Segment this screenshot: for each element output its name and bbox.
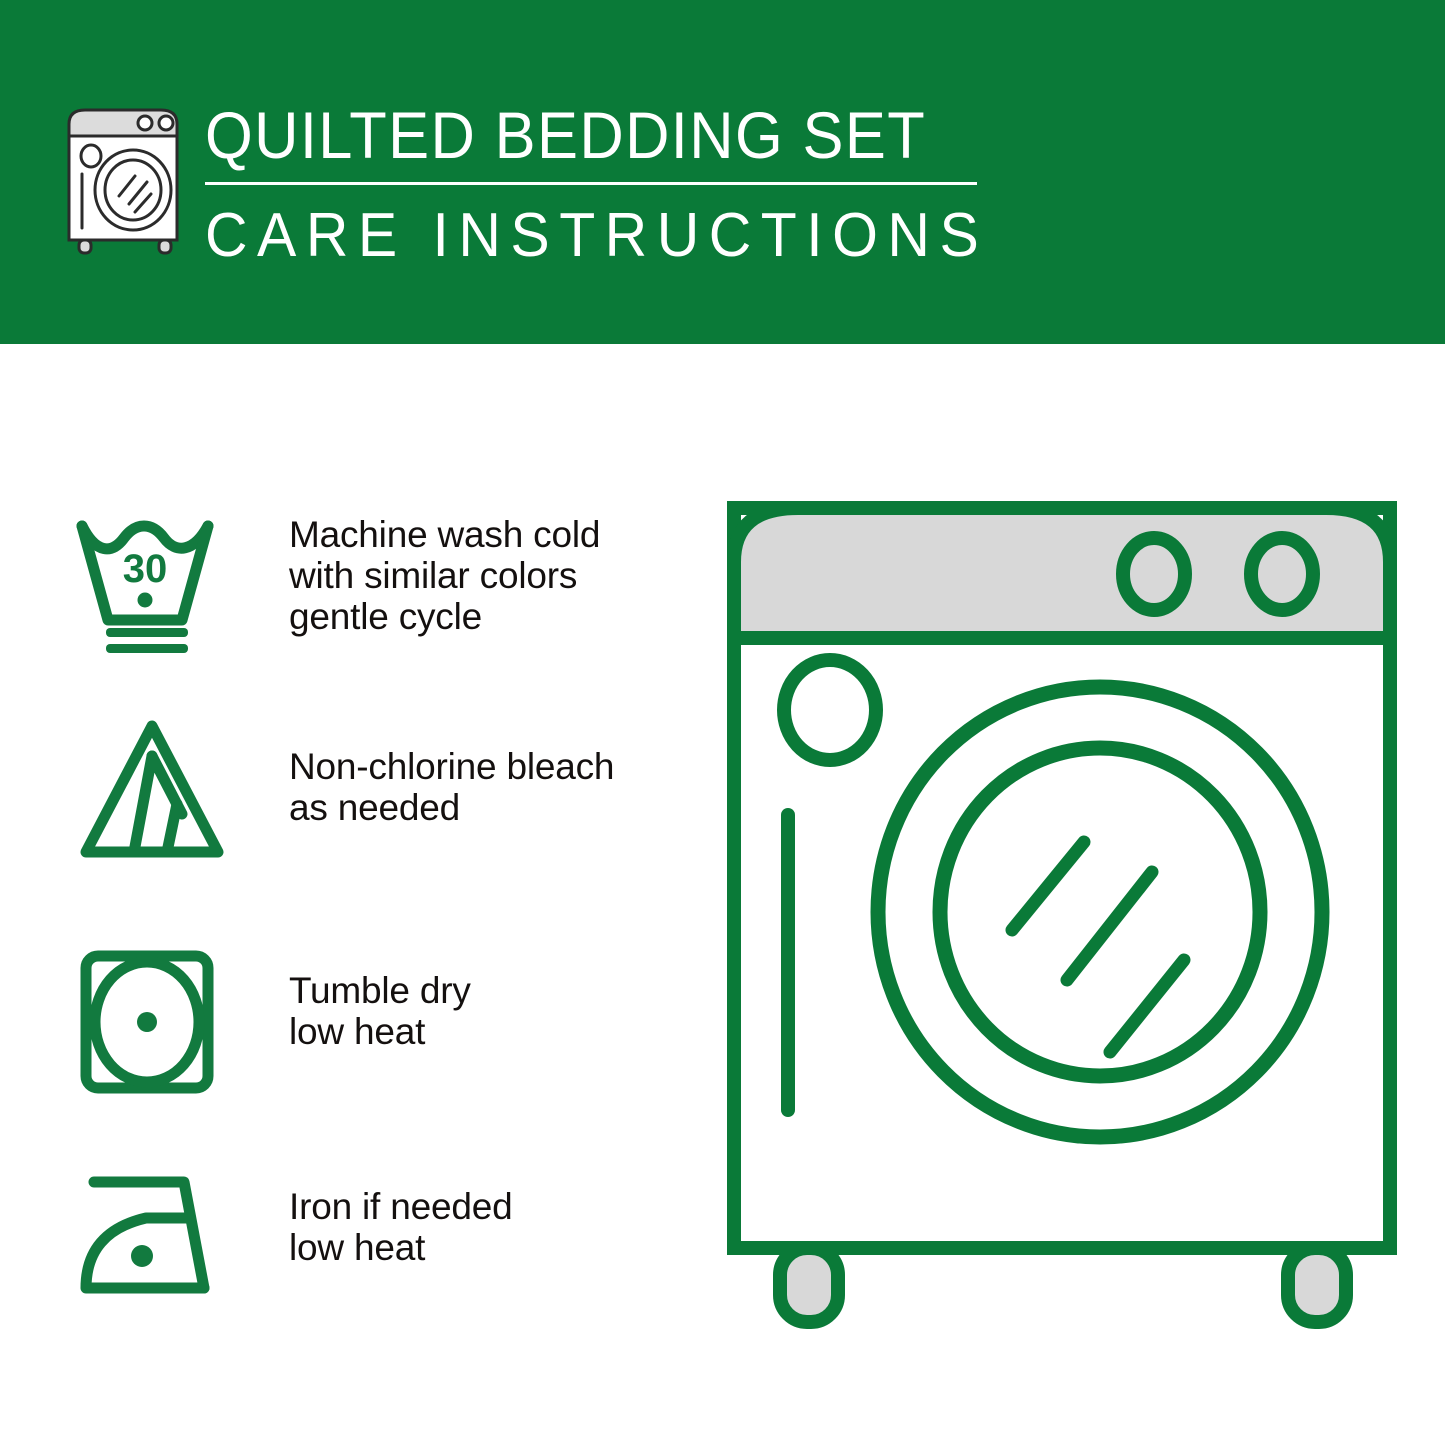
page-subtitle: CARE INSTRUCTIONS — [205, 199, 956, 273]
care-instruction-text: Non-chlorine bleach as needed — [289, 746, 689, 828]
wash-tub-30-icon: 30 — [72, 504, 232, 664]
care-text-line: Non-chlorine bleach — [289, 746, 689, 787]
care-text-line: low heat — [289, 1227, 689, 1268]
non-chlorine-bleach-triangle-icon — [72, 714, 232, 874]
care-text-line: Iron if needed — [289, 1186, 689, 1227]
header-divider — [205, 182, 977, 185]
care-instructions-page: QUILTED BEDDING SET CARE INSTRUCTIONS 30 — [0, 0, 1445, 1445]
door-inner-ring — [940, 748, 1260, 1076]
tumble-dry-low-icon — [72, 942, 232, 1102]
washing-machine-illustration — [712, 470, 1412, 1360]
care-text-line: as needed — [289, 787, 689, 828]
control-knob-left — [1123, 538, 1185, 610]
care-instruction-row: Tumble dry low heat — [0, 942, 700, 1122]
page-title: QUILTED BEDDING SET — [205, 96, 940, 174]
iron-low-heat-icon — [72, 1160, 232, 1320]
care-instruction-text: Iron if needed low heat — [289, 1186, 689, 1268]
care-instructions-list: 30 Machine wash cold with similar colors… — [0, 344, 700, 1445]
care-text-line: with similar colors — [289, 555, 689, 596]
care-instruction-row: 30 Machine wash cold with similar colors… — [0, 496, 700, 676]
wash-temperature-label: 30 — [123, 547, 168, 591]
care-instruction-row: Iron if needed low heat — [0, 1152, 700, 1332]
header-text-block: QUILTED BEDDING SET CARE INSTRUCTIONS — [205, 96, 995, 273]
care-text-line: Tumble dry — [289, 970, 689, 1011]
leg-left — [780, 1248, 838, 1322]
care-instruction-row: Non-chlorine bleach as needed — [0, 714, 700, 894]
control-knob-right — [1251, 538, 1313, 610]
care-text-line: Machine wash cold — [289, 514, 689, 555]
care-instruction-text: Tumble dry low heat — [289, 970, 689, 1052]
washing-machine-icon — [63, 104, 191, 256]
care-text-line: low heat — [289, 1011, 689, 1052]
care-text-line: gentle cycle — [289, 596, 689, 637]
care-instruction-text: Machine wash cold with similar colors ge… — [289, 514, 689, 637]
leg-right — [1288, 1248, 1346, 1322]
header-band: QUILTED BEDDING SET CARE INSTRUCTIONS — [0, 0, 1445, 344]
detergent-dispenser-circle — [784, 660, 876, 760]
